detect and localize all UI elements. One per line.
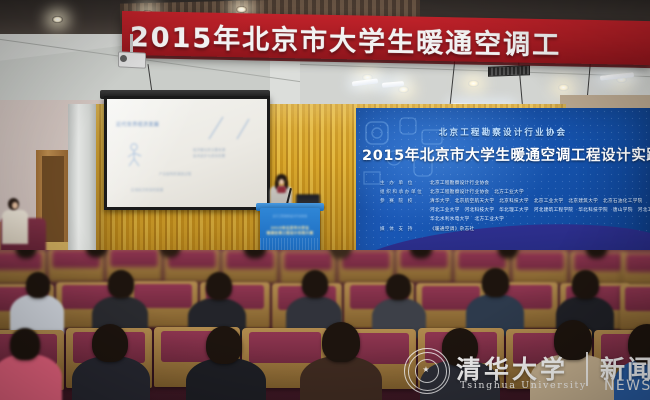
- audience-head: [92, 324, 128, 362]
- audience-head: [386, 274, 411, 300]
- downlight: [236, 6, 247, 13]
- audience-head: [302, 270, 328, 298]
- seal-star-icon: ★: [422, 366, 430, 374]
- banner-text: 2015年北京市大学生暖通空调工: [130, 15, 561, 62]
- audience-shoulders: [300, 356, 382, 400]
- watermark-news-en: NEWS: [604, 378, 650, 394]
- screen-glare: [107, 99, 267, 207]
- seated-person-face: [12, 202, 18, 209]
- speaker-scarf: [277, 186, 286, 193]
- speaker-face: [279, 179, 284, 185]
- backdrop-association: 北京工程勘察设计行业协会: [356, 126, 650, 138]
- credit-value: 北京工程勘察设计行业协会 北方工业大学: [430, 189, 524, 195]
- backdrop-title: 2015年北京市大学生暖通空调工程设计实践大赛: [362, 144, 650, 165]
- audience-head: [322, 322, 360, 362]
- podium-main-text: 2015年北京市大学生 暖通空调工程设计实践大赛: [264, 226, 316, 236]
- audience-shoulders: [72, 356, 150, 400]
- media-value: 《暖通空调》杂志社: [430, 226, 475, 232]
- credit-value: 清华大学 北京航空航天大学 北京科技大学 北京工业大学 北京建筑大学 北京石油化…: [430, 198, 643, 204]
- watermark: ★ 清华大学 Tsinghua University 新闻 NEWS: [404, 344, 650, 396]
- audience-head: [108, 270, 134, 298]
- podium-text-line2: 暖通空调工程设计实践大赛: [264, 231, 316, 236]
- podium-small-text: 北京工程勘察设计行业协会: [264, 214, 316, 218]
- credit-row: 媒 体 支 持 《暖通空调》杂志社: [380, 226, 648, 232]
- credit-label: 参 赛 院 校: [380, 198, 430, 204]
- audience-head: [482, 268, 509, 297]
- seat[interactable]: [512, 250, 568, 284]
- watermark-divider: [586, 352, 588, 386]
- seat[interactable]: [622, 252, 650, 286]
- downlight: [558, 84, 569, 91]
- credit-row: 参 赛 院 校 清华大学 北京航空航天大学 北京科技大学 北京工业大学 北京建筑…: [380, 198, 648, 204]
- wall-column: [68, 104, 98, 264]
- projector-lens-icon: [120, 55, 127, 62]
- credit-continuation: 河北工业大学 河北科技大学 华北理工大学 河北建筑工程学院 华北科技学院 唐山学…: [430, 207, 648, 213]
- credit-row: 主 办 单 位 北京工程勘察设计行业协会: [380, 180, 648, 186]
- backdrop-credits: 主 办 单 位 北京工程勘察设计行业协会 组织和承办单位 北京工程勘察设计行业协…: [380, 180, 648, 235]
- credit-continuation: 华北水利水电大学 北方工业大学: [430, 216, 648, 222]
- audience-head: [572, 270, 599, 299]
- downlight: [52, 16, 63, 23]
- credit-value: 北京工程勘察设计行业协会: [430, 180, 489, 186]
- audience-shoulders: [0, 354, 62, 400]
- downlight: [398, 86, 409, 93]
- credit-label: 主 办 单 位: [380, 180, 430, 186]
- downlight: [468, 80, 479, 87]
- audience-head: [206, 326, 242, 364]
- seated-person-body: [2, 210, 28, 244]
- audience-head: [10, 328, 40, 360]
- audience-head: [206, 272, 232, 300]
- projection-screen: 近代世界经济发展 经济增长的主要来源 技术进步与资本积累 产业结构的演进过程 区…: [104, 96, 270, 210]
- ceiling-vent: [488, 65, 530, 76]
- watermark-university-en: Tsinghua University: [460, 380, 587, 391]
- credit-row: 组织和承办单位 北京工程勘察设计行业协会 北方工业大学: [380, 189, 648, 195]
- audience-shoulders: [186, 358, 266, 400]
- media-label: 媒 体 支 持: [380, 226, 430, 232]
- credit-label: 组织和承办单位: [380, 189, 430, 195]
- audience-shoulders: [10, 294, 64, 334]
- screenshot-root: 近代世界经济发展 经济增长的主要来源 技术进步与资本积累 产业结构的演进过程 区…: [0, 0, 650, 400]
- audience-head: [26, 272, 50, 298]
